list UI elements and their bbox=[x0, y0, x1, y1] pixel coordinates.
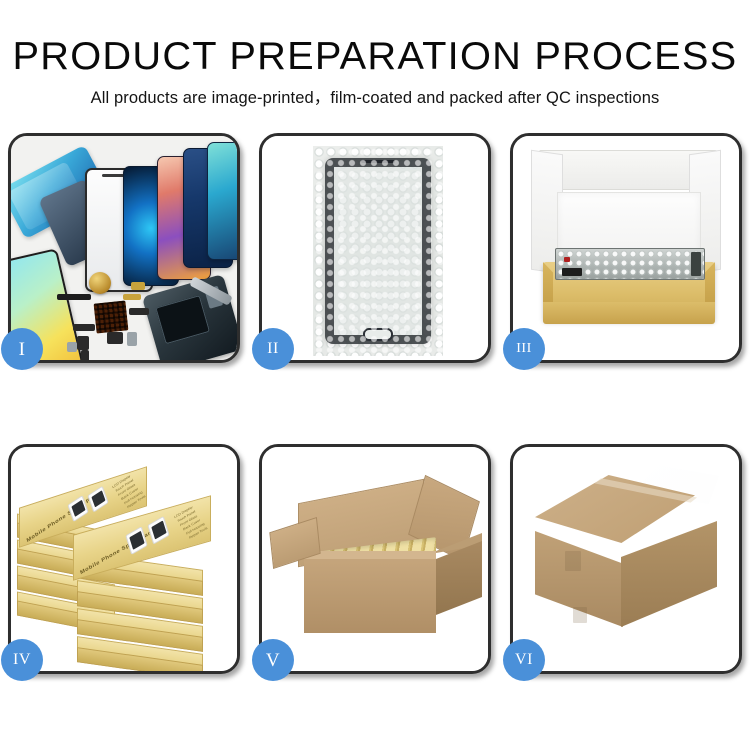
step-4-image: Mobile Phone Spare Parts LCD Display Tou… bbox=[11, 447, 237, 671]
sim-tray-part bbox=[129, 308, 149, 315]
kraft-box-front-wall bbox=[543, 302, 715, 324]
step-badge-2: II bbox=[252, 328, 294, 370]
flex-cable-part bbox=[73, 324, 95, 331]
step-badge-2-label: II bbox=[267, 341, 279, 357]
page-subtitle: All products are image-printed，film-coat… bbox=[0, 78, 750, 108]
bubble-wrap-sheet bbox=[313, 146, 443, 356]
step-badge-5-label: V bbox=[266, 651, 280, 670]
product-preparation-infographic: PRODUCT PREPARATION PROCESS All products… bbox=[0, 0, 750, 750]
phone-display-teal bbox=[207, 142, 237, 260]
phone-graphic-b2 bbox=[147, 516, 169, 545]
page-title: PRODUCT PREPARATION PROCESS bbox=[0, 0, 750, 78]
step-badge-5: V bbox=[252, 639, 294, 681]
yellow-box-stack: Mobile Phone Spare Parts LCD Display Tou… bbox=[15, 465, 237, 665]
process-step-panel-6[interactable]: VI bbox=[510, 444, 742, 674]
battery-cell-part bbox=[127, 332, 137, 346]
step-badge-6-label: VI bbox=[515, 652, 533, 668]
step-badge-1-label: I bbox=[19, 340, 26, 359]
step-badge-3-label: III bbox=[516, 342, 532, 356]
black-label bbox=[562, 268, 582, 276]
step-badge-4-label: IV bbox=[13, 652, 31, 668]
process-step-panel-4[interactable]: Mobile Phone Spare Parts LCD Display Tou… bbox=[8, 444, 240, 674]
connector-grid-part bbox=[94, 300, 129, 333]
step-6-image bbox=[513, 447, 739, 671]
wrapped-phone-screen bbox=[325, 158, 431, 344]
process-step-panel-5[interactable]: V bbox=[259, 444, 491, 674]
gold-connector-part bbox=[131, 282, 145, 290]
step-badge-3: III bbox=[503, 328, 545, 370]
sealed-carton-right-face bbox=[621, 521, 717, 627]
vibrator-motor-part bbox=[89, 272, 111, 294]
step-badge-6: VI bbox=[503, 639, 545, 681]
step-5-image bbox=[262, 447, 488, 671]
phone-graphic-a2 bbox=[87, 486, 108, 513]
phone-graphic-b1 bbox=[125, 526, 147, 555]
header: PRODUCT PREPARATION PROCESS All products… bbox=[0, 0, 750, 108]
process-step-panel-2[interactable]: II bbox=[259, 133, 491, 363]
camera-module-part bbox=[77, 336, 89, 350]
step-badge-1: I bbox=[1, 328, 43, 370]
carton-mark-lower bbox=[573, 607, 587, 623]
process-step-panel-3[interactable]: III bbox=[510, 133, 742, 363]
screen-edge bbox=[691, 252, 701, 276]
carton-front-panel bbox=[304, 559, 436, 633]
carton-side-panel bbox=[436, 541, 482, 615]
earpiece-speaker-part bbox=[57, 294, 91, 300]
carton-mark-upper bbox=[565, 551, 581, 571]
gold-flex-part bbox=[123, 294, 141, 300]
step-3-image bbox=[513, 136, 739, 360]
process-step-panel-1[interactable]: I bbox=[8, 133, 240, 363]
step-1-image bbox=[11, 136, 237, 360]
metal-bracket-part bbox=[67, 342, 77, 352]
red-sticker bbox=[564, 257, 570, 262]
speaker-box-part bbox=[107, 332, 123, 344]
button-part bbox=[81, 350, 89, 360]
phone-logic-board bbox=[142, 274, 237, 360]
process-steps-grid: I II bbox=[8, 133, 742, 674]
wrapped-screen-in-box bbox=[555, 248, 705, 280]
step-badge-4: IV bbox=[1, 639, 43, 681]
step-2-image bbox=[262, 136, 488, 360]
